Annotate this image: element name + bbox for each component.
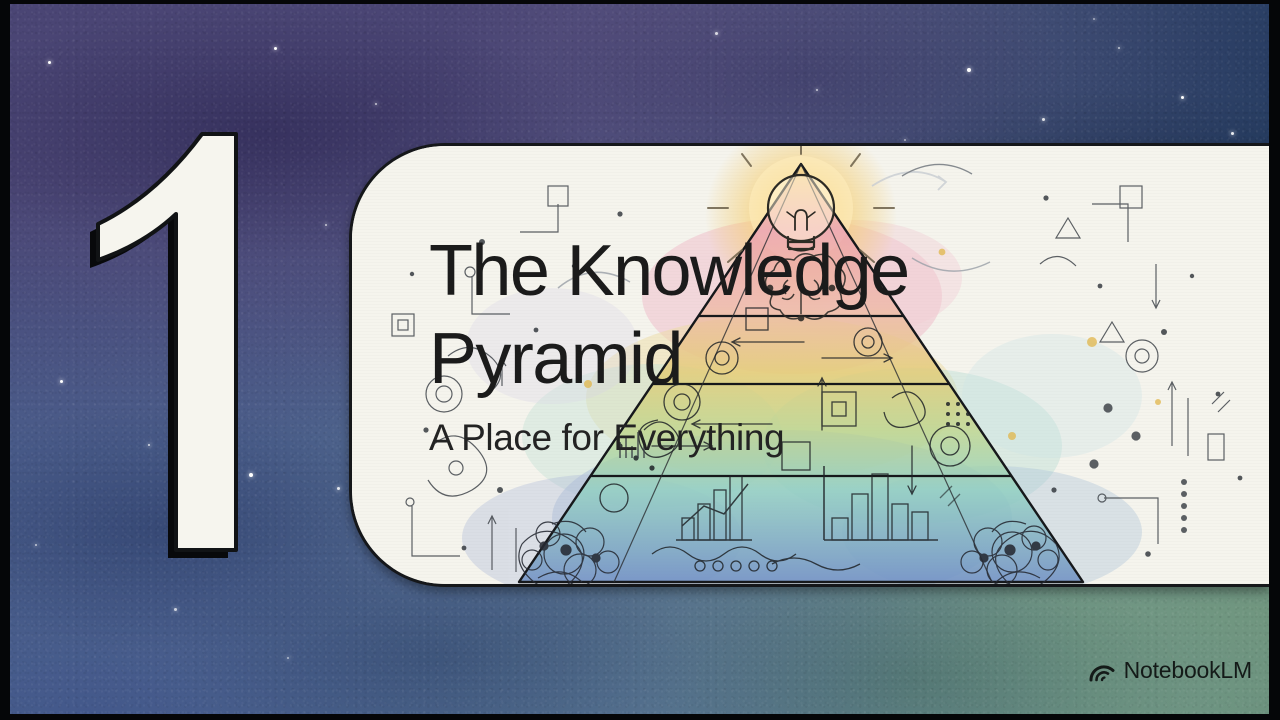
- letterbox-right: [1269, 0, 1280, 720]
- notebooklm-spiral-icon: [1089, 660, 1115, 682]
- slide-canvas: The Knowledge Pyramid A Place for Everyt…: [0, 0, 1280, 720]
- letterbox-top: [0, 0, 1280, 4]
- notebooklm-brand: NotebookLM: [1089, 657, 1252, 684]
- slide-number-1: [84, 126, 334, 566]
- letterbox-bottom: [0, 714, 1280, 720]
- letterbox-left: [0, 0, 10, 720]
- notebooklm-brand-label: NotebookLM: [1124, 657, 1252, 684]
- content-card: [349, 143, 1269, 587]
- knowledge-pyramid-illustration: [352, 146, 1269, 584]
